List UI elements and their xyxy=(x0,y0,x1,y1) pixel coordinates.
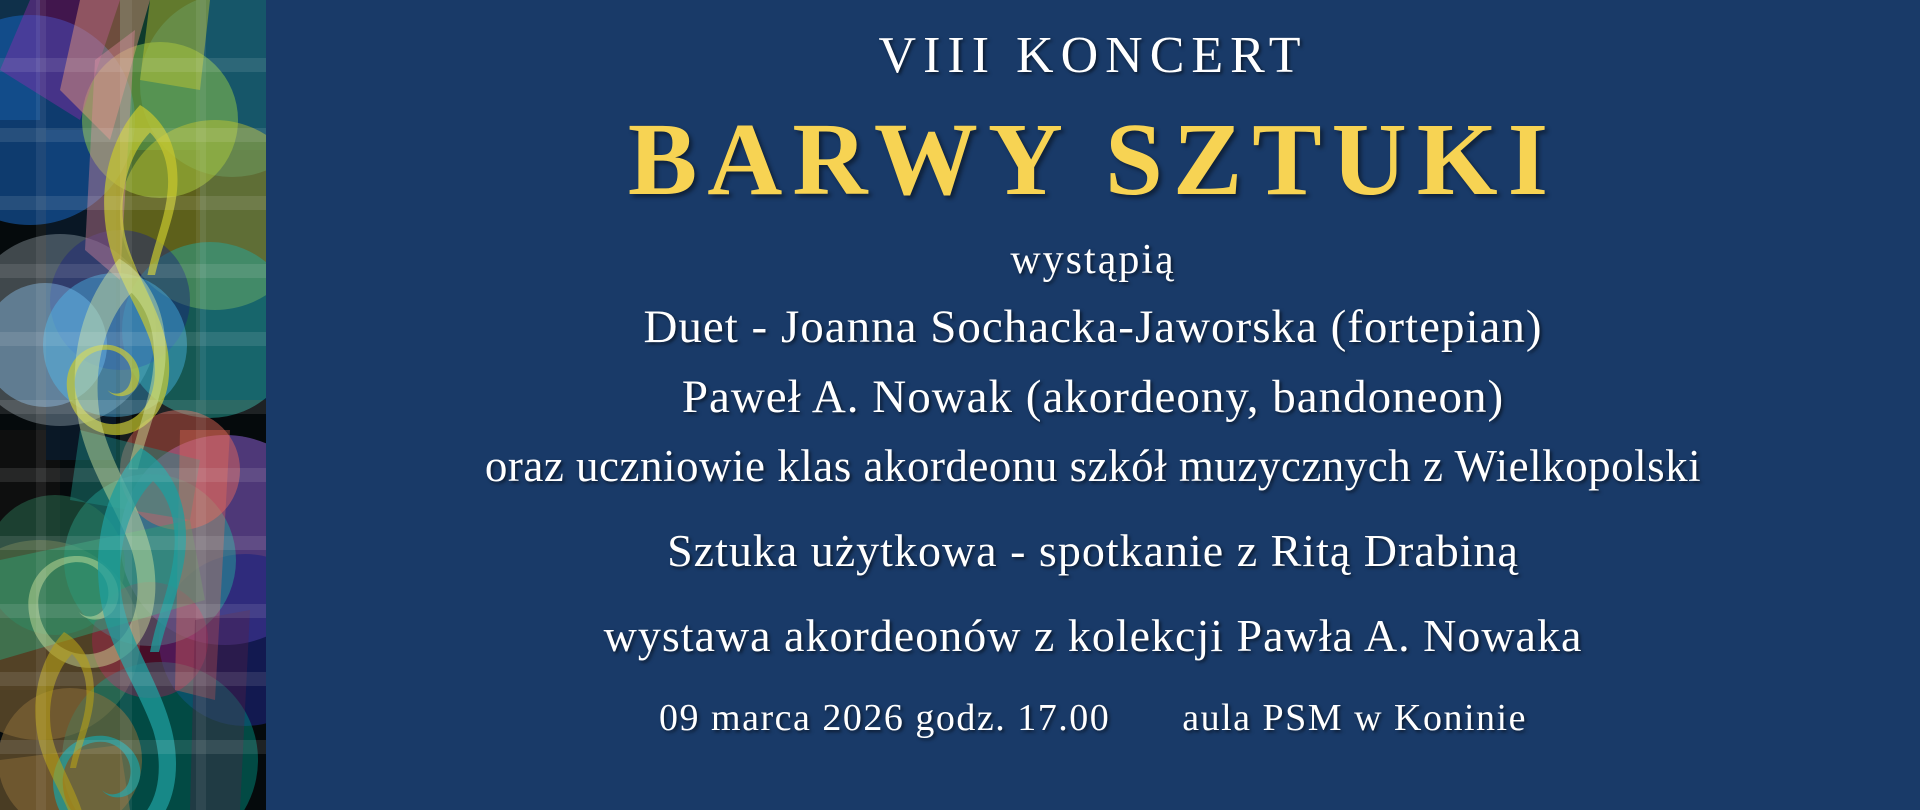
page-title: BARWY SZTUKI xyxy=(628,108,1558,212)
abstract-treble-clef-collage-icon xyxy=(0,0,266,810)
performers-intro-label: wystąpią xyxy=(1010,236,1175,284)
event-details-row: 09 marca 2026 godz. 17.00 aula PSM w Kon… xyxy=(659,696,1527,740)
concert-poster: VIII KONCERT BARWY SZTUKI wystąpią Duet … xyxy=(0,0,1920,810)
performer-line-2: Paweł A. Nowak (akordeony, bandoneon) xyxy=(682,370,1504,424)
students-participants-line: oraz uczniowie klas akordeonu szkół muzy… xyxy=(485,440,1701,492)
performer-line-1: Duet - Joanna Sochacka-Jaworska (fortepi… xyxy=(643,300,1542,354)
accordion-exhibition-line: wystawa akordeonów z kolekcji Pawła A. N… xyxy=(604,609,1583,662)
applied-art-meeting-line: Sztuka użytkowa - spotkanie z Ritą Drabi… xyxy=(667,524,1519,577)
event-venue: aula PSM w Koninie xyxy=(1182,696,1527,740)
poster-text-column: VIII KONCERT BARWY SZTUKI wystąpią Duet … xyxy=(266,0,1920,810)
abstract-artwork-panel xyxy=(0,0,266,810)
concert-number-kicker: VIII KONCERT xyxy=(879,30,1308,82)
event-date-time: 09 marca 2026 godz. 17.00 xyxy=(659,696,1110,740)
